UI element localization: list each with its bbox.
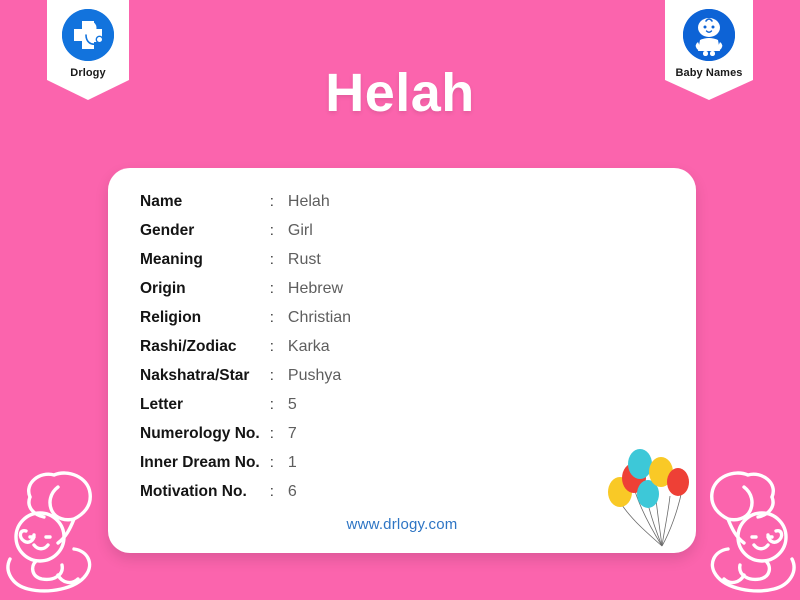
row-value: Karka: [288, 338, 351, 367]
site-url-link[interactable]: www.drlogy.com: [108, 516, 696, 533]
row-value: Pushya: [288, 367, 351, 396]
table-row: Gender : Girl: [140, 222, 351, 251]
table-row: Numerology No. : 7: [140, 425, 351, 454]
table-row: Religion : Christian: [140, 309, 351, 338]
row-value: Girl: [288, 222, 351, 251]
row-label: Rashi/Zodiac: [140, 338, 270, 367]
table-row: Meaning : Rust: [140, 251, 351, 280]
row-label: Letter: [140, 396, 270, 425]
page-title: Helah: [0, 62, 800, 124]
row-label: Religion: [140, 309, 270, 338]
row-separator: :: [270, 425, 288, 454]
row-separator: :: [270, 338, 288, 367]
row-separator: :: [270, 396, 288, 425]
name-details-card: Name : Helah Gender : Girl Meaning : Rus…: [108, 168, 696, 553]
row-separator: :: [270, 309, 288, 338]
mother-and-baby-outline-icon-right: [694, 463, 800, 600]
table-row: Inner Dream No. : 1: [140, 454, 351, 483]
baby-icon: [683, 9, 735, 61]
row-value: Rust: [288, 251, 351, 280]
row-label: Inner Dream No.: [140, 454, 270, 483]
mother-and-baby-outline-icon-left: [0, 463, 108, 600]
row-separator: :: [270, 222, 288, 251]
row-label: Origin: [140, 280, 270, 309]
row-value: Hebrew: [288, 280, 351, 309]
row-value: Christian: [288, 309, 351, 338]
table-row: Letter : 5: [140, 396, 351, 425]
row-label: Name: [140, 193, 270, 222]
row-separator: :: [270, 483, 288, 512]
row-value: Helah: [288, 193, 351, 222]
row-separator: :: [270, 193, 288, 222]
row-label: Gender: [140, 222, 270, 251]
row-label: Meaning: [140, 251, 270, 280]
row-separator: :: [270, 280, 288, 309]
table-row: Origin : Hebrew: [140, 280, 351, 309]
row-label: Nakshatra/Star: [140, 367, 270, 396]
name-details-table: Name : Helah Gender : Girl Meaning : Rus…: [140, 193, 351, 512]
poster-canvas: Drlogy Baby Names Helah: [0, 0, 800, 600]
row-value: 1: [288, 454, 351, 483]
table-row: Nakshatra/Star : Pushya: [140, 367, 351, 396]
row-value: 5: [288, 396, 351, 425]
row-value: 6: [288, 483, 351, 512]
table-body: Name : Helah Gender : Girl Meaning : Rus…: [140, 193, 351, 512]
row-separator: :: [270, 454, 288, 483]
table-row: Motivation No. : 6: [140, 483, 351, 512]
doctor-medical-cross-icon: [62, 9, 114, 61]
balloons-icon: [604, 444, 692, 553]
row-label: Numerology No.: [140, 425, 270, 454]
row-label: Motivation No.: [140, 483, 270, 512]
table-row: Name : Helah: [140, 193, 351, 222]
row-separator: :: [270, 367, 288, 396]
table-row: Rashi/Zodiac : Karka: [140, 338, 351, 367]
row-separator: :: [270, 251, 288, 280]
row-value: 7: [288, 425, 351, 454]
